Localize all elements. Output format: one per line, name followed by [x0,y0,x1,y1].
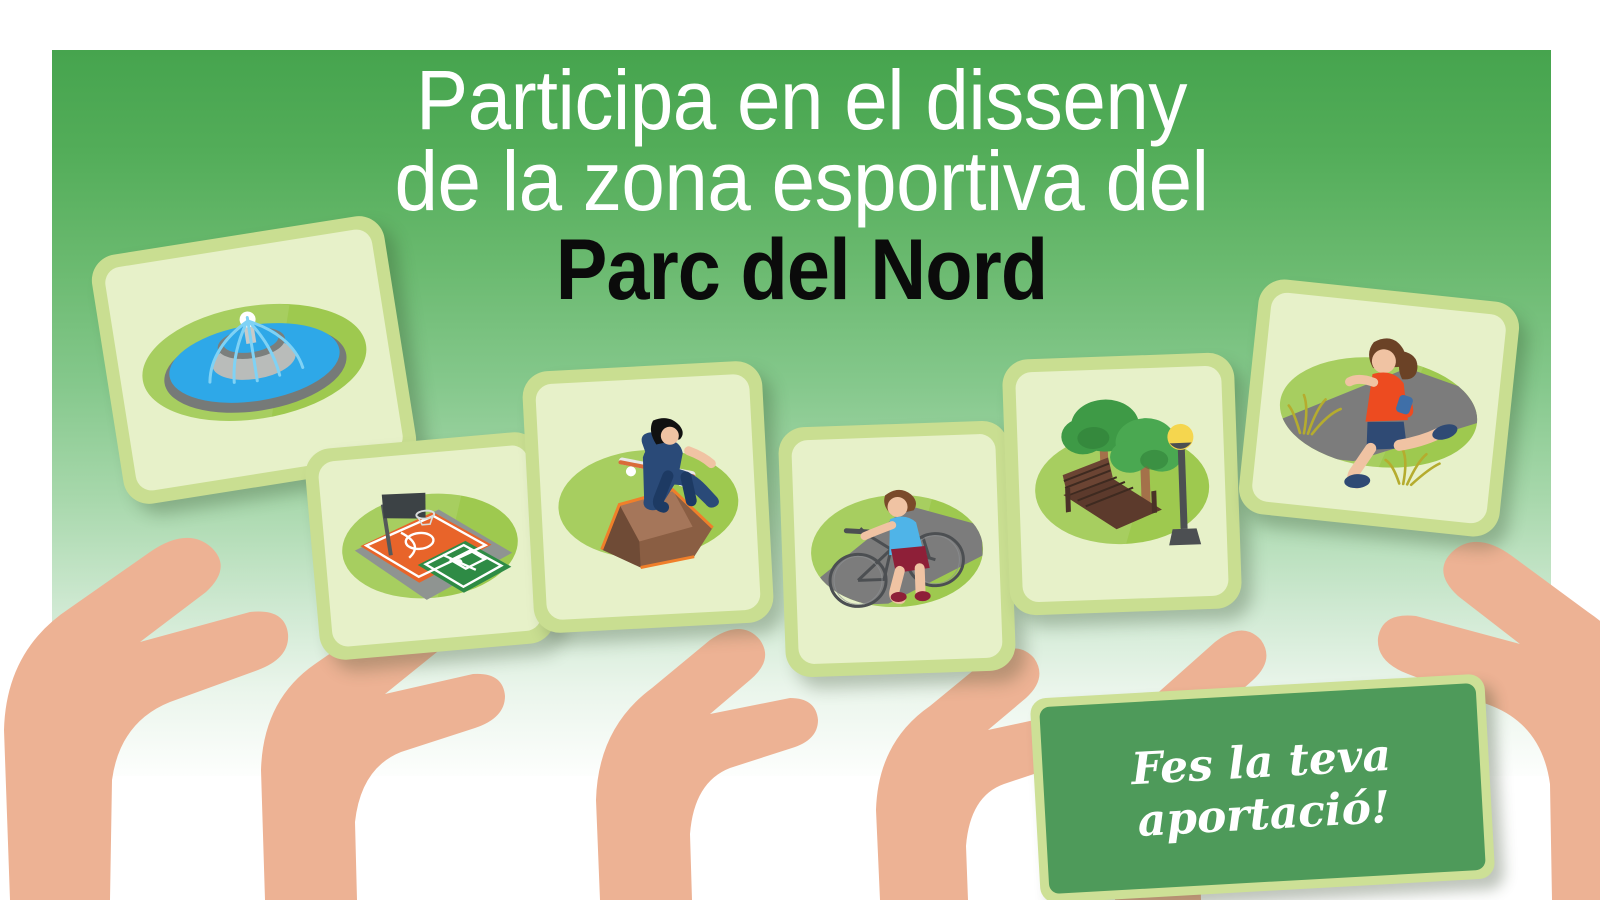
call-to-action-box[interactable]: Fes la teva aportació! [1030,673,1496,900]
card-rest-area[interactable] [1002,352,1243,616]
banner-root: Participa en el disseny de la zona espor… [0,0,1600,900]
park-bench-icon [1015,365,1229,602]
runner-icon [1251,291,1508,525]
card-face [317,444,542,648]
sports-court-icon [317,444,542,648]
card-face [1015,365,1229,602]
footer: Ajuntamentde Sabadell Hi col·labora: [0,788,1600,856]
skateboarder-icon [535,374,761,621]
card-sports-courts[interactable] [303,430,557,662]
card-bike-path[interactable] [778,420,1017,678]
cyclist-icon [791,434,1003,665]
card-skatepark[interactable] [521,360,774,634]
card-face [791,434,1003,665]
card-running-circuit[interactable] [1236,277,1521,539]
card-face [1251,291,1508,525]
card-face [535,374,761,621]
